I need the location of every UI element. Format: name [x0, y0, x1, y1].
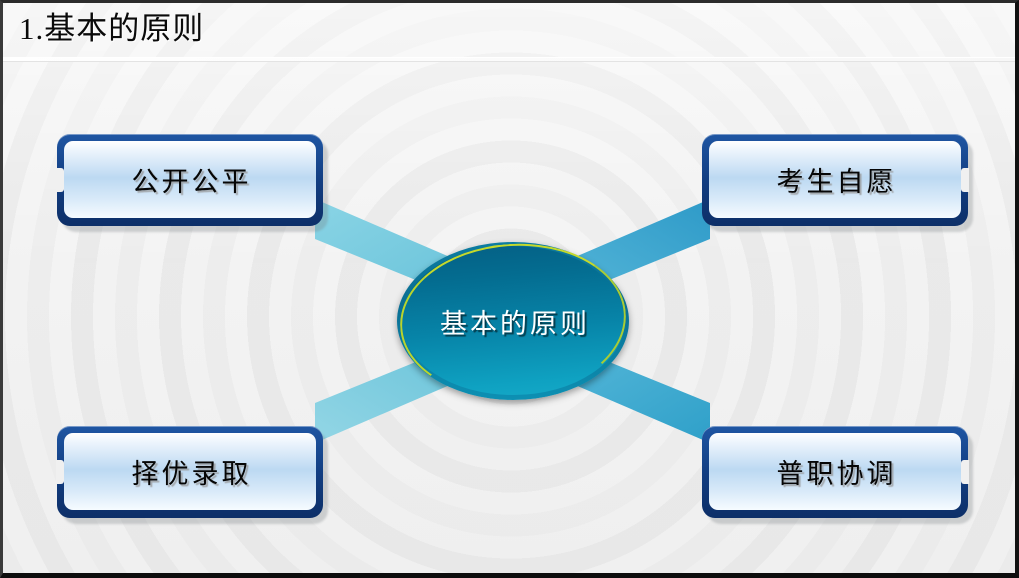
- title-divider-rule: [3, 57, 1015, 62]
- node-label: 择优录取: [129, 452, 252, 491]
- node-notch-icon: [56, 460, 64, 484]
- node-label: 普职协调: [774, 452, 897, 491]
- node-notch-icon: [56, 168, 64, 192]
- node-box-bottom-right[interactable]: 普职协调: [702, 426, 968, 518]
- node-box-top-left[interactable]: 公开公平: [57, 134, 323, 226]
- node-box-top-right[interactable]: 考生自愿: [702, 134, 968, 226]
- node-inner-panel: 择优录取: [64, 433, 316, 510]
- node-notch-icon: [961, 168, 969, 192]
- node-inner-panel: 公开公平: [64, 141, 316, 218]
- node-label: 考生自愿: [774, 160, 897, 199]
- node-label: 公开公平: [129, 160, 252, 199]
- node-inner-panel: 普职协调: [709, 433, 961, 510]
- page-title: 1.基本的原则: [19, 9, 204, 49]
- node-notch-icon: [961, 460, 969, 484]
- slide-canvas: 1.基本的原则: [0, 0, 1019, 578]
- node-inner-panel: 考生自愿: [709, 141, 961, 218]
- hub-label: 基本的原则: [397, 242, 629, 400]
- node-box-bottom-left[interactable]: 择优录取: [57, 426, 323, 518]
- center-node-ellipse[interactable]: 基本的原则: [397, 242, 629, 400]
